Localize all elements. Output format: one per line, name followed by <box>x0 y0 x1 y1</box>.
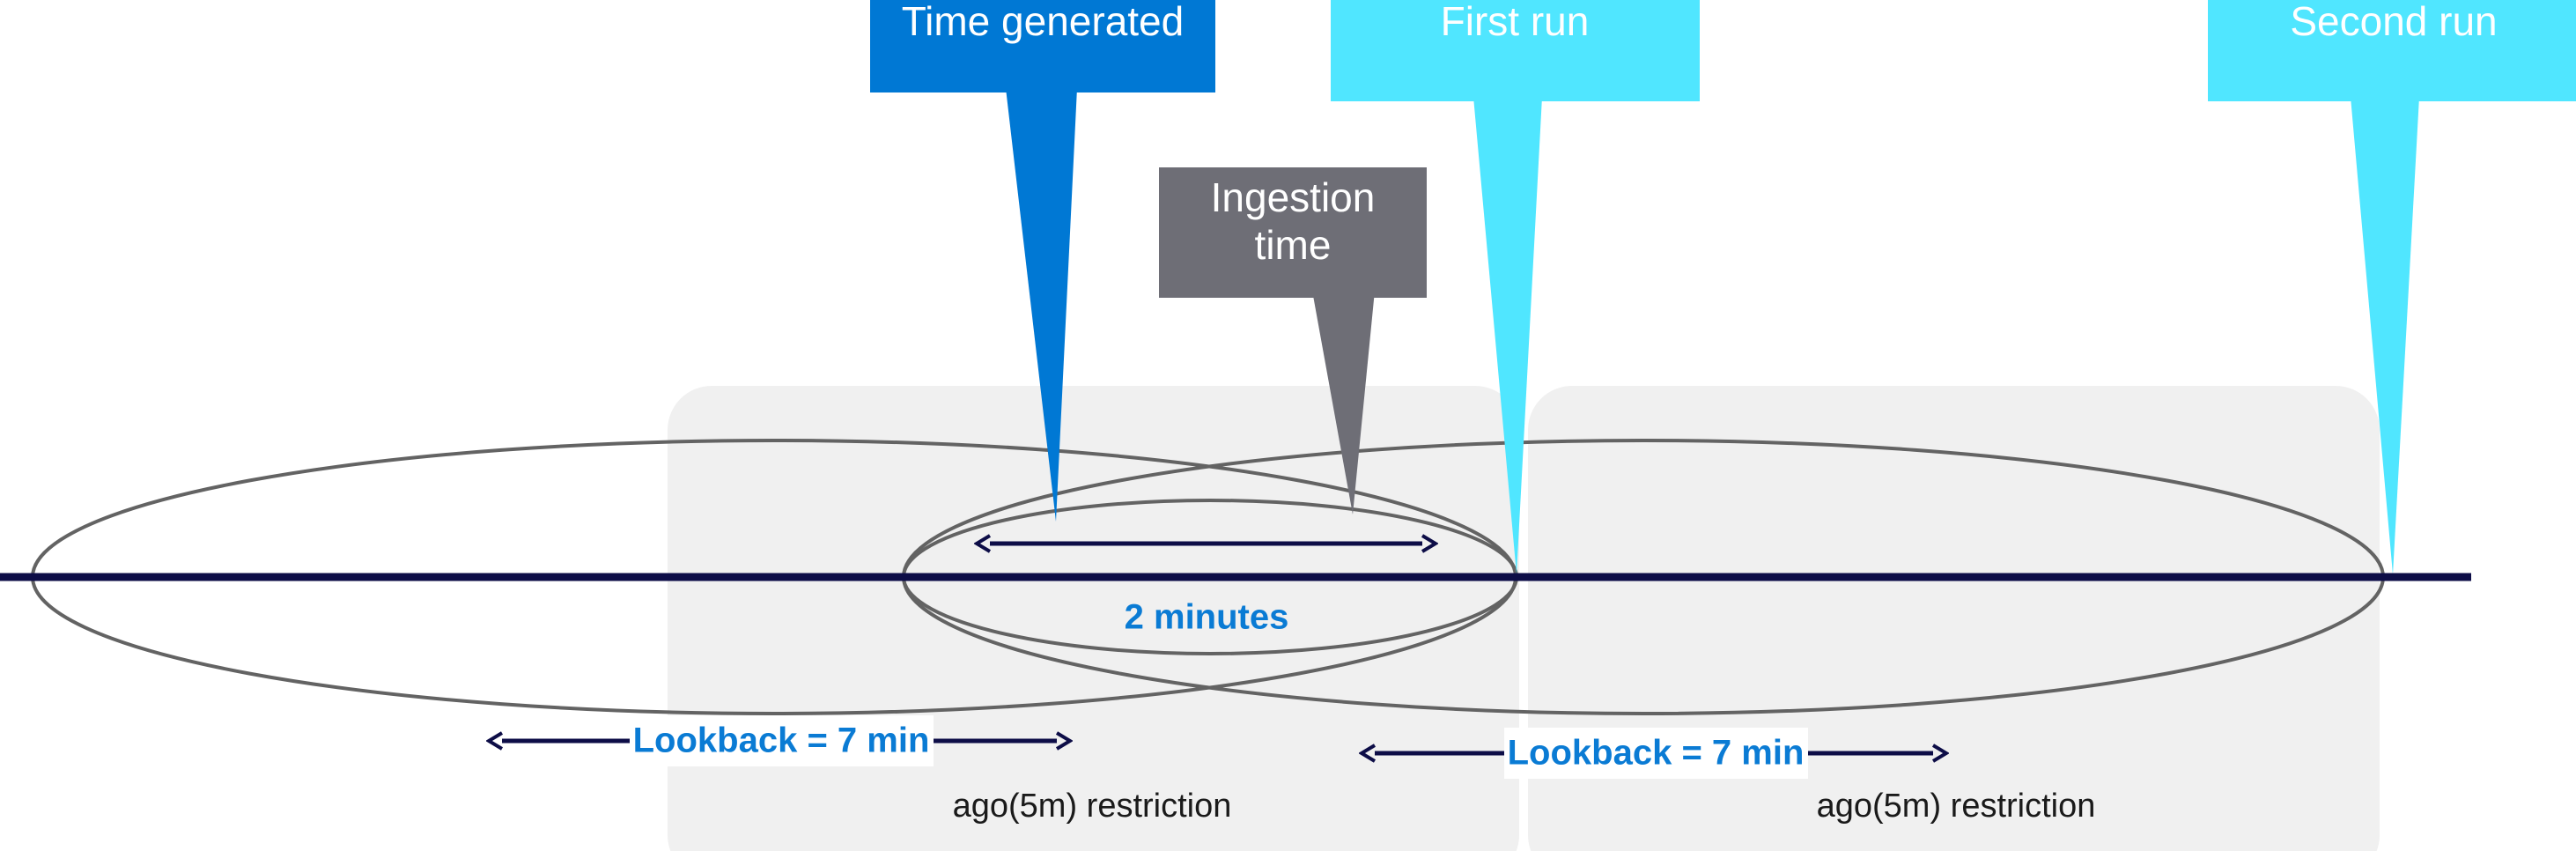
restriction-panels-group <box>668 386 2380 851</box>
time-generated-callout-label: Time generated <box>902 0 1184 44</box>
ingestion-delay-measure-label: 2 minutes <box>1125 598 1289 637</box>
ago-restriction-panel-1 <box>668 386 1519 851</box>
second-run-callout-label: Second run <box>2290 0 2497 44</box>
callout-boxes-group: Time generated Ingestion time First run … <box>870 0 2576 298</box>
restriction-labels-group: ago(5m) restriction ago(5m) restriction <box>953 788 2096 825</box>
lookback-measure-second-run-label: Lookback = 7 min <box>1508 734 1805 773</box>
ago-restriction-panel-2 <box>1528 386 2380 851</box>
diagram-canvas: Time generated Ingestion time First run … <box>0 0 2576 851</box>
ingestion-time-callout-label-line2: time <box>1255 222 1332 268</box>
ingestion-time-callout-label-line1: Ingestion <box>1211 174 1376 220</box>
ingestion-delay-timeline-diagram: Time generated Ingestion time First run … <box>0 0 2576 851</box>
first-run-callout-label: First run <box>1441 0 1590 44</box>
ago-restriction-label-1: ago(5m) restriction <box>953 788 1232 825</box>
ago-restriction-label-2: ago(5m) restriction <box>1817 788 2096 825</box>
lookback-measure-first-run-label: Lookback = 7 min <box>633 721 930 760</box>
